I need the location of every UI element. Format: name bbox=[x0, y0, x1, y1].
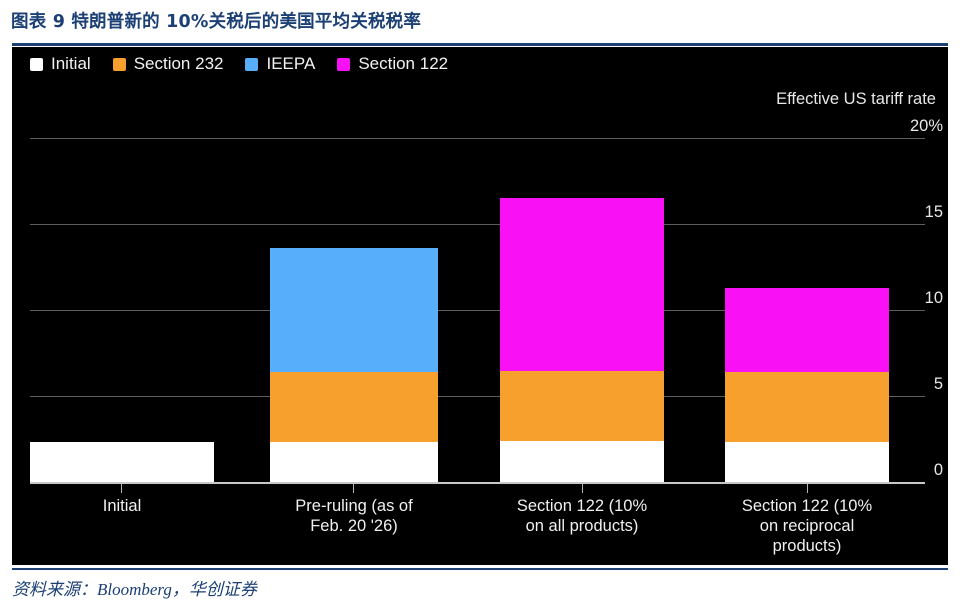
bar-pre-ruling[interactable] bbox=[270, 248, 438, 482]
bar-segment-section-232 bbox=[725, 372, 889, 442]
xtick-initial bbox=[121, 484, 122, 493]
ytick-label-20: 20% bbox=[910, 118, 943, 135]
bar-section-122-reciprocal[interactable] bbox=[725, 288, 889, 482]
xaxis-label-section-122-all: Section 122 (10% on all products) bbox=[500, 496, 664, 536]
bar-segment-section-232 bbox=[270, 372, 438, 442]
xaxis-label-section-122-reciprocal: Section 122 (10% on reciprocal products) bbox=[725, 496, 889, 556]
bar-segment-section-122 bbox=[725, 288, 889, 372]
xaxis-label-initial: Initial bbox=[42, 496, 202, 516]
bar-segment-section-232 bbox=[500, 371, 664, 441]
bar-segment-section-122 bbox=[500, 198, 664, 371]
axis-baseline bbox=[30, 482, 925, 484]
chart-panel: Initial Section 232 IEEPA Section 122 Ef… bbox=[12, 47, 948, 565]
bar-segment-initial bbox=[725, 442, 889, 482]
footer-divider bbox=[12, 568, 948, 570]
source-note: 资料来源：Bloomberg，华创证券 bbox=[12, 575, 257, 600]
xaxis-label-pre-ruling: Pre-ruling (as of Feb. 20 '26) bbox=[270, 496, 438, 536]
ytick-label-5: 5 bbox=[934, 376, 943, 393]
ytick-label-10: 10 bbox=[925, 290, 943, 307]
bar-section-122-all[interactable] bbox=[500, 198, 664, 482]
bar-segment-initial bbox=[30, 442, 214, 482]
gridline-20 bbox=[30, 138, 925, 139]
bar-segment-initial bbox=[500, 441, 664, 482]
page-title: 图表 9 特朗普新的 10%关税后的美国平均关税税率 bbox=[0, 8, 421, 33]
bar-initial[interactable] bbox=[30, 442, 214, 482]
ytick-label-15: 15 bbox=[925, 204, 943, 221]
xtick-section-122-all bbox=[582, 484, 583, 493]
ytick-label-0: 0 bbox=[934, 462, 943, 479]
title-bar: 图表 9 特朗普新的 10%关税后的美国平均关税税率 bbox=[0, 0, 960, 40]
xtick-pre-ruling bbox=[353, 484, 354, 493]
xtick-section-122-reciprocal bbox=[807, 484, 808, 493]
title-divider bbox=[12, 43, 948, 46]
bar-segment-initial bbox=[270, 442, 438, 482]
bar-segment-ieepa bbox=[270, 248, 438, 372]
plot-area: 20% 15 10 5 0 Initial Pre-ruling (as of … bbox=[12, 47, 948, 565]
gridline-15 bbox=[30, 224, 925, 225]
